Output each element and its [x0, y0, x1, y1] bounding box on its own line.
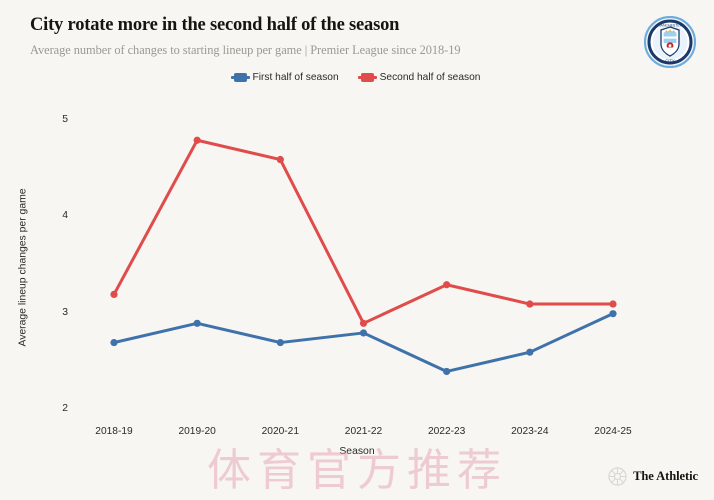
athletic-wheel-icon — [608, 467, 627, 486]
x-axis-title: Season — [0, 446, 714, 457]
series-lines — [0, 0, 714, 500]
plot-area: Average lineup changes per game 2345 201… — [0, 0, 714, 500]
data-point[interactable] — [110, 291, 117, 298]
data-point[interactable] — [194, 137, 201, 144]
data-point[interactable] — [277, 339, 284, 346]
data-point[interactable] — [609, 310, 616, 317]
data-point[interactable] — [526, 349, 533, 356]
chart-page: City rotate more in the second half of t… — [0, 0, 714, 500]
data-point[interactable] — [443, 281, 450, 288]
data-point[interactable] — [110, 339, 117, 346]
data-point[interactable] — [526, 300, 533, 307]
data-point[interactable] — [277, 156, 284, 163]
data-point[interactable] — [360, 320, 367, 327]
data-point[interactable] — [194, 320, 201, 327]
data-point[interactable] — [609, 300, 616, 307]
data-point[interactable] — [443, 368, 450, 375]
data-point[interactable] — [360, 329, 367, 336]
the-athletic-logo: The Athletic — [608, 467, 698, 486]
athletic-wordmark: The Athletic — [633, 469, 698, 484]
series-line — [114, 140, 613, 323]
